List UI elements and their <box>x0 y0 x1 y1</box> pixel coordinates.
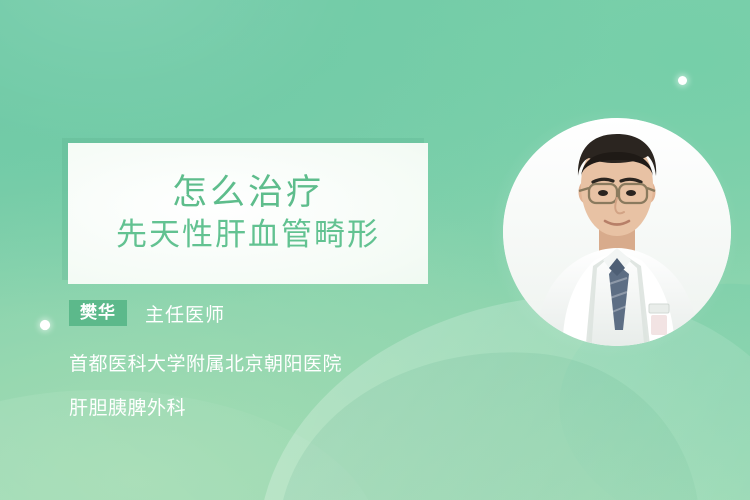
doctor-name-badge: 樊华 <box>69 300 127 326</box>
doctor-rank: 主任医师 <box>145 300 225 327</box>
doctor-portrait <box>503 118 731 346</box>
sparkle-dot-left <box>38 318 52 332</box>
doctor-department: 肝胆胰脾外科 <box>69 393 469 420</box>
decor-wave-top-left <box>0 0 370 150</box>
cover-card: 怎么治疗 先天性肝血管畸形 樊华 主任医师 首都医科大学附属北京朝阳医院 肝胆胰… <box>0 0 750 500</box>
doctor-name-row: 樊华 主任医师 <box>69 298 469 328</box>
title-line-1: 怎么治疗 <box>172 172 324 215</box>
doctor-hospital: 首都医科大学附属北京朝阳医院 <box>69 349 469 376</box>
title-line-2: 先天性肝血管畸形 <box>116 216 380 255</box>
sparkle-dot-top-right <box>678 76 687 85</box>
title-panel: 怎么治疗 先天性肝血管畸形 <box>68 143 428 284</box>
doctor-info: 樊华 主任医师 首都医科大学附属北京朝阳医院 肝胆胰脾外科 <box>69 298 469 420</box>
